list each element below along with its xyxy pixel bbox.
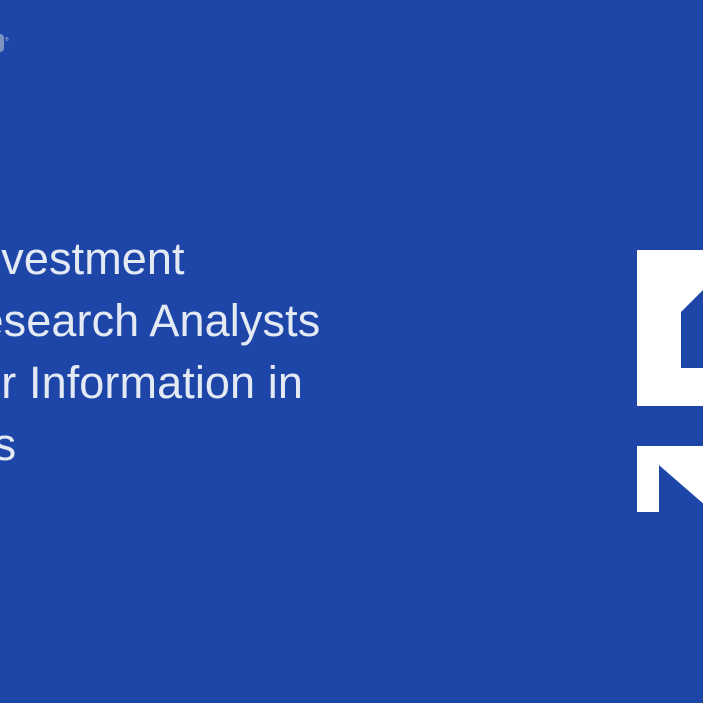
headline-line-2: s & Research Analysts xyxy=(0,290,488,352)
corner-logo-mark-icon xyxy=(0,34,4,52)
headline: ects Investment s & Research Analysts ay… xyxy=(0,228,488,476)
trademark-symbol: ® xyxy=(5,38,9,43)
headline-line-1: ects Investment xyxy=(0,228,488,290)
headline-line-4: ements xyxy=(0,414,488,476)
headline-line-3: ay their Information in xyxy=(0,352,488,414)
brand-glyph-icon xyxy=(637,250,703,512)
banner-canvas: ® ects Investment s & Research Analysts … xyxy=(0,0,703,703)
brand-glyph xyxy=(637,250,703,512)
corner-logo: ® xyxy=(0,34,16,54)
